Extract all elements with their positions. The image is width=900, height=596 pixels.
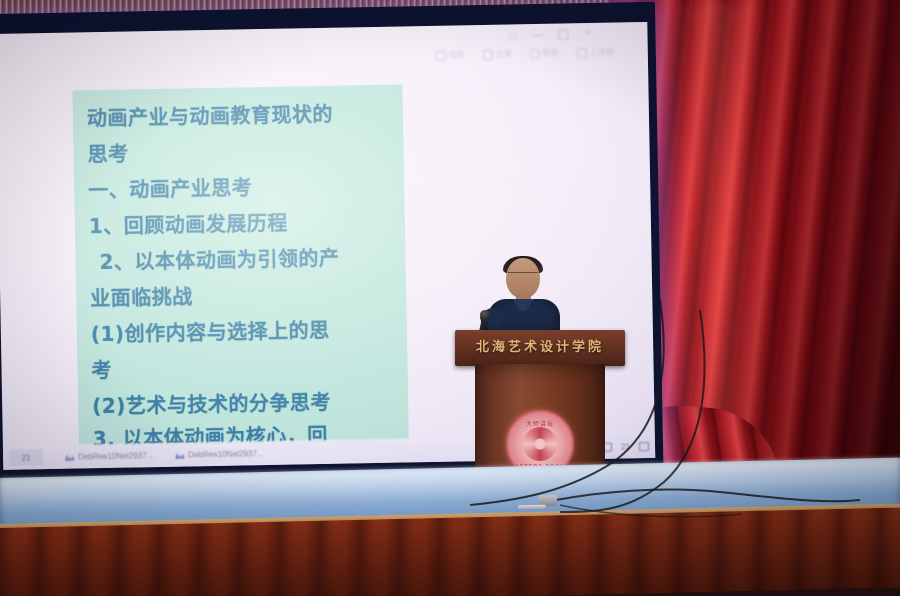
spiral-icon [523, 427, 557, 461]
floor-remote [518, 505, 546, 510]
podium-venue-title: 北海艺术设计学院 [455, 336, 625, 355]
save-icon [436, 50, 446, 60]
grid-icon[interactable] [509, 31, 518, 40]
start-button[interactable]: 21 [9, 449, 43, 466]
slide-line-3: 一、动画产业思考 [88, 167, 399, 209]
slide-line-8: 考 [91, 347, 402, 389]
taskbar-item-2[interactable]: DebRee10Net2937... [175, 449, 263, 460]
upload-icon [577, 48, 587, 58]
slide-line-9: (2)艺术与技术的分争思考 [92, 383, 403, 425]
slide-line-2: 思考 [87, 131, 398, 173]
toolbar-save-label: 保存 [449, 49, 465, 60]
notification-icon[interactable] [639, 441, 649, 450]
taskbar-item-1[interactable]: DebRee10Net2937... [65, 451, 153, 462]
slide-line-4: 1、回顾动画发展历程 [89, 203, 400, 245]
app-icon [65, 453, 74, 461]
slide-text-block: 动画产业与动画教育现状的 思考 一、动画产业思考 1、回顾动画发展历程 2、以本… [72, 84, 409, 454]
toolbar-help-label: 帮助 [543, 48, 559, 59]
share-icon [483, 49, 493, 59]
speaker-glasses [508, 272, 538, 280]
taskbar-item-2-label: DebRee10Net2937... [188, 449, 263, 459]
window-controls[interactable]: × [509, 29, 592, 41]
taskbar-item-1-label: DebRee10Net2937... [78, 451, 153, 461]
microphone-head [480, 310, 490, 319]
toolbar-upload-button[interactable]: 上传图 [577, 47, 614, 59]
minimize-icon[interactable] [534, 34, 543, 35]
toolbar-actions[interactable]: 保存 分享 帮助 上传图 [436, 47, 614, 61]
toolbar-share-button[interactable]: 分享 [483, 48, 512, 60]
maximize-icon[interactable] [559, 29, 569, 39]
slide-line-1: 动画产业与动画教育现状的 [87, 95, 398, 137]
toolbar-save-button[interactable]: 保存 [436, 49, 465, 61]
toolbar-share-label: 分享 [496, 48, 512, 59]
app-icon [175, 451, 184, 459]
help-icon [530, 48, 540, 58]
toolbar-upload-label: 上传图 [590, 47, 614, 58]
close-icon[interactable]: × [585, 30, 592, 38]
lecture-hall-photo: × 保存 分享 帮助 [0, 0, 900, 596]
slide-line-5: 2、以本体动画为引领的产 [89, 239, 400, 281]
slide-line-6: 业面临挑战 [90, 275, 401, 317]
slide-line-7: (1)创作内容与选择上的思 [91, 311, 402, 353]
toolbar-help-button[interactable]: 帮助 [530, 48, 559, 60]
